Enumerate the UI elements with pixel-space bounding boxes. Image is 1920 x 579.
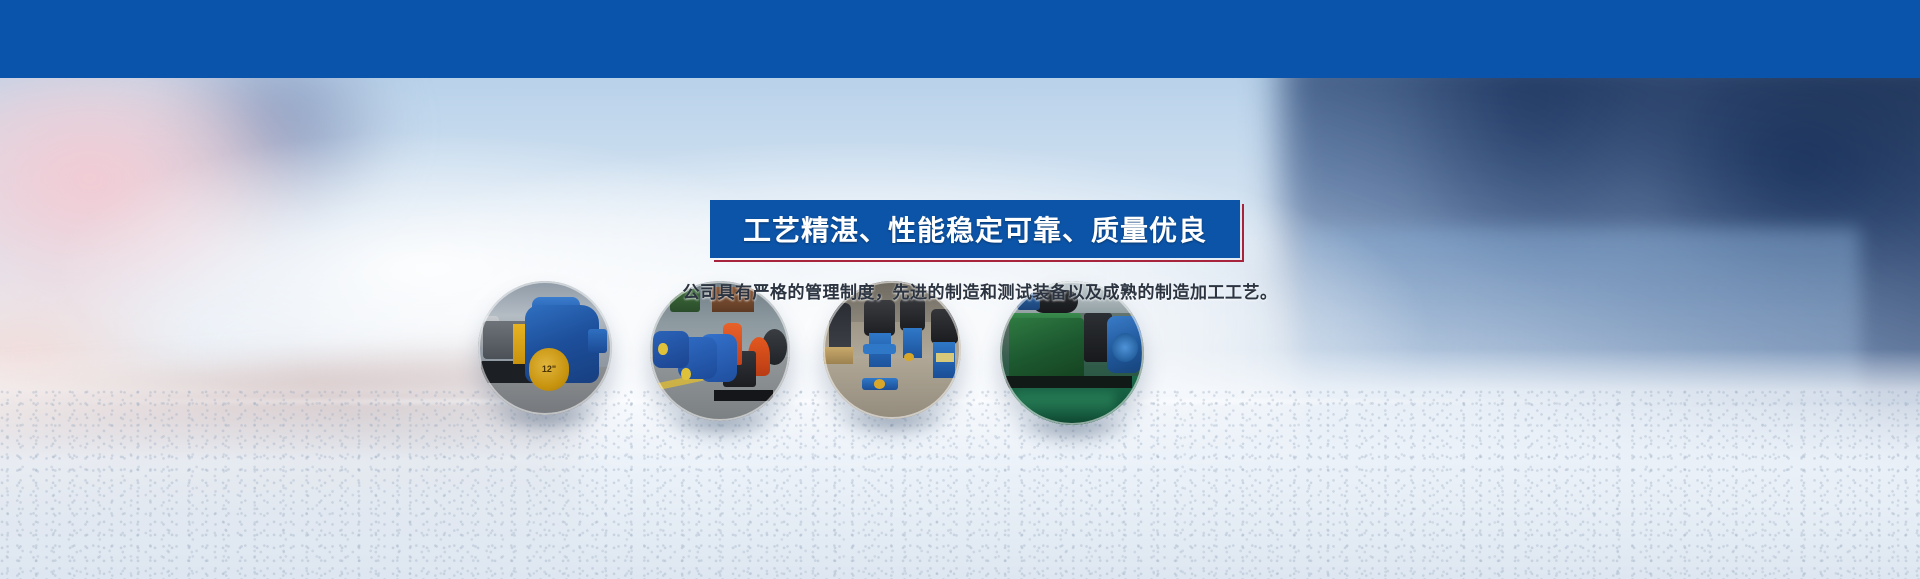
headline-blue-plate: 工艺精湛、性能稳定可靠、质量优良 [710, 200, 1240, 258]
pump-flange-size-label: 12" [529, 348, 569, 391]
headline-text: 工艺精湛、性能稳定可靠、质量优良 [743, 209, 1207, 249]
product-circle-split-case-pump[interactable]: 12" [478, 281, 612, 415]
top-navigation-bar [0, 0, 1920, 78]
headline-block: 工艺精湛、性能稳定可靠、质量优良 [710, 200, 1240, 258]
product-photo-split-case-pump: 12" [478, 281, 612, 415]
hero-banner: 工艺精湛、性能稳定可靠、质量优良 公司具有严格的管理制度，先进的制造和测试装备以… [0, 0, 1920, 579]
subtitle-text: 公司具有严格的管理制度，先进的制造和测试装备以及成熟的制造加工工艺。 [660, 278, 1300, 303]
